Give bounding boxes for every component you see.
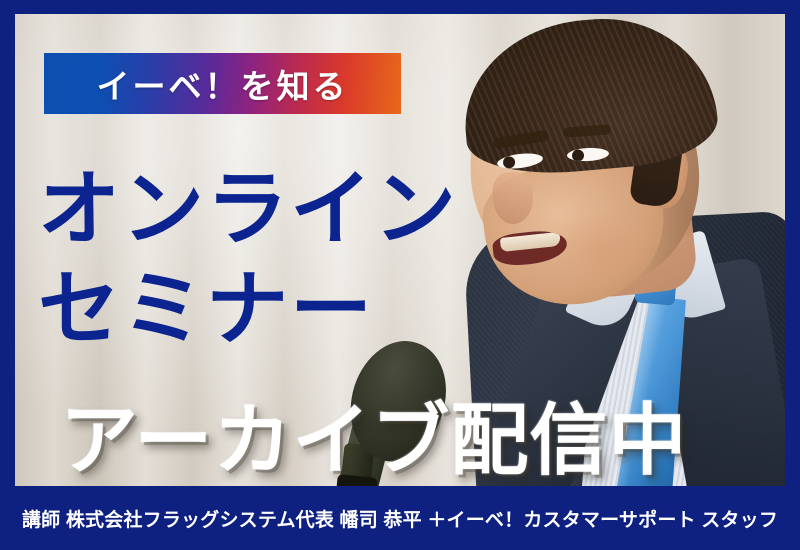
pupil-right [572, 149, 585, 162]
pupil-left [502, 156, 515, 169]
category-badge: イーベ！を知る [44, 53, 401, 114]
presenter-bar-caption: 講師 株式会社フラッグシステム代表 幡司 恭平 ＋イーベ！カスタマーサポート ス… [22, 505, 778, 532]
page-title-line-2: セミナー [38, 260, 458, 360]
page-title: オンライン セミナー [38, 160, 458, 360]
archive-headline: アーカイブ配信中 [60, 378, 687, 490]
archive-headline-label: アーカイブ配信中 [60, 396, 687, 484]
page-title-line-1: オンライン [38, 160, 458, 260]
cheek [555, 210, 647, 288]
category-badge-label: イーベ！を知る [97, 60, 349, 108]
teeth [500, 232, 561, 252]
seminar-banner: イーベ！を知る オンライン セミナー アーカイブ配信中 講師 株式会社フラッグシ… [0, 0, 800, 550]
presenter-bar: 講師 株式会社フラッグシステム代表 幡司 恭平 ＋イーベ！カスタマーサポート ス… [0, 486, 800, 550]
